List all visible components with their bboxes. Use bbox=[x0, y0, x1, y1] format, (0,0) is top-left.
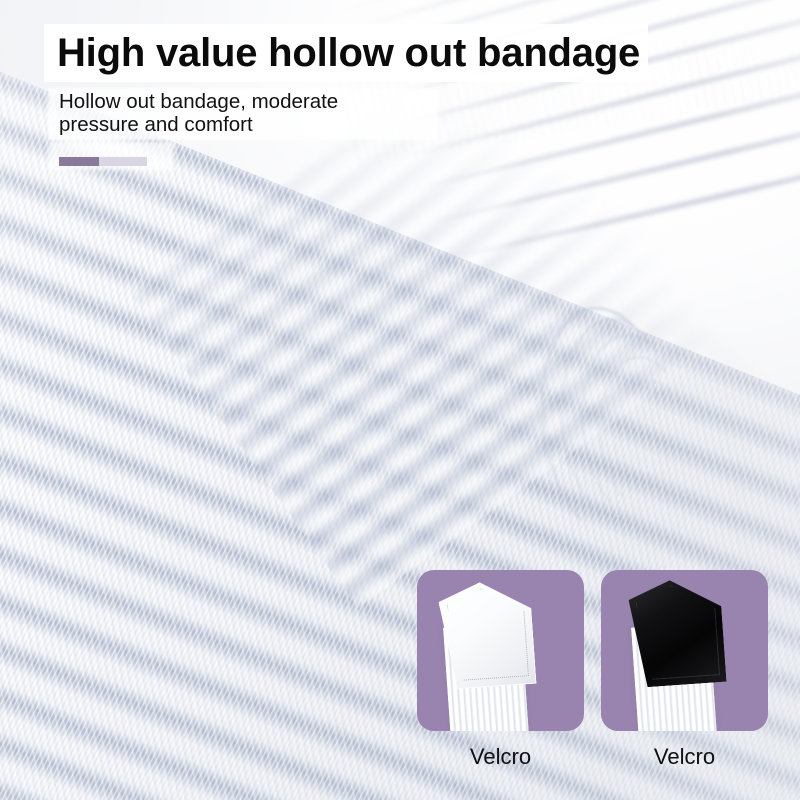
subtitle-line-2: pressure and comfort bbox=[59, 113, 253, 136]
velcro-card-black bbox=[601, 570, 768, 731]
page-subtitle: Hollow out bandage, moderate pressure an… bbox=[59, 90, 459, 136]
velcro-card-black-label: Velcro bbox=[601, 744, 768, 770]
subtitle-line-1: Hollow out bandage, moderate bbox=[59, 90, 338, 113]
accent-bar-segment-light bbox=[99, 157, 147, 166]
page-title: High value hollow out bandage bbox=[57, 27, 640, 79]
accent-bar bbox=[59, 157, 147, 166]
velcro-detail-cards: Velcro Velcro bbox=[417, 570, 769, 775]
velcro-card-white bbox=[417, 570, 584, 731]
bandage-curled-edge-loops bbox=[538, 300, 748, 550]
accent-bar-segment-dark bbox=[59, 157, 99, 166]
fan-stitch-tick bbox=[654, 39, 672, 116]
product-poster: High value hollow out bandage Hollow out… bbox=[0, 0, 800, 800]
velcro-card-white-label: Velcro bbox=[417, 744, 584, 770]
